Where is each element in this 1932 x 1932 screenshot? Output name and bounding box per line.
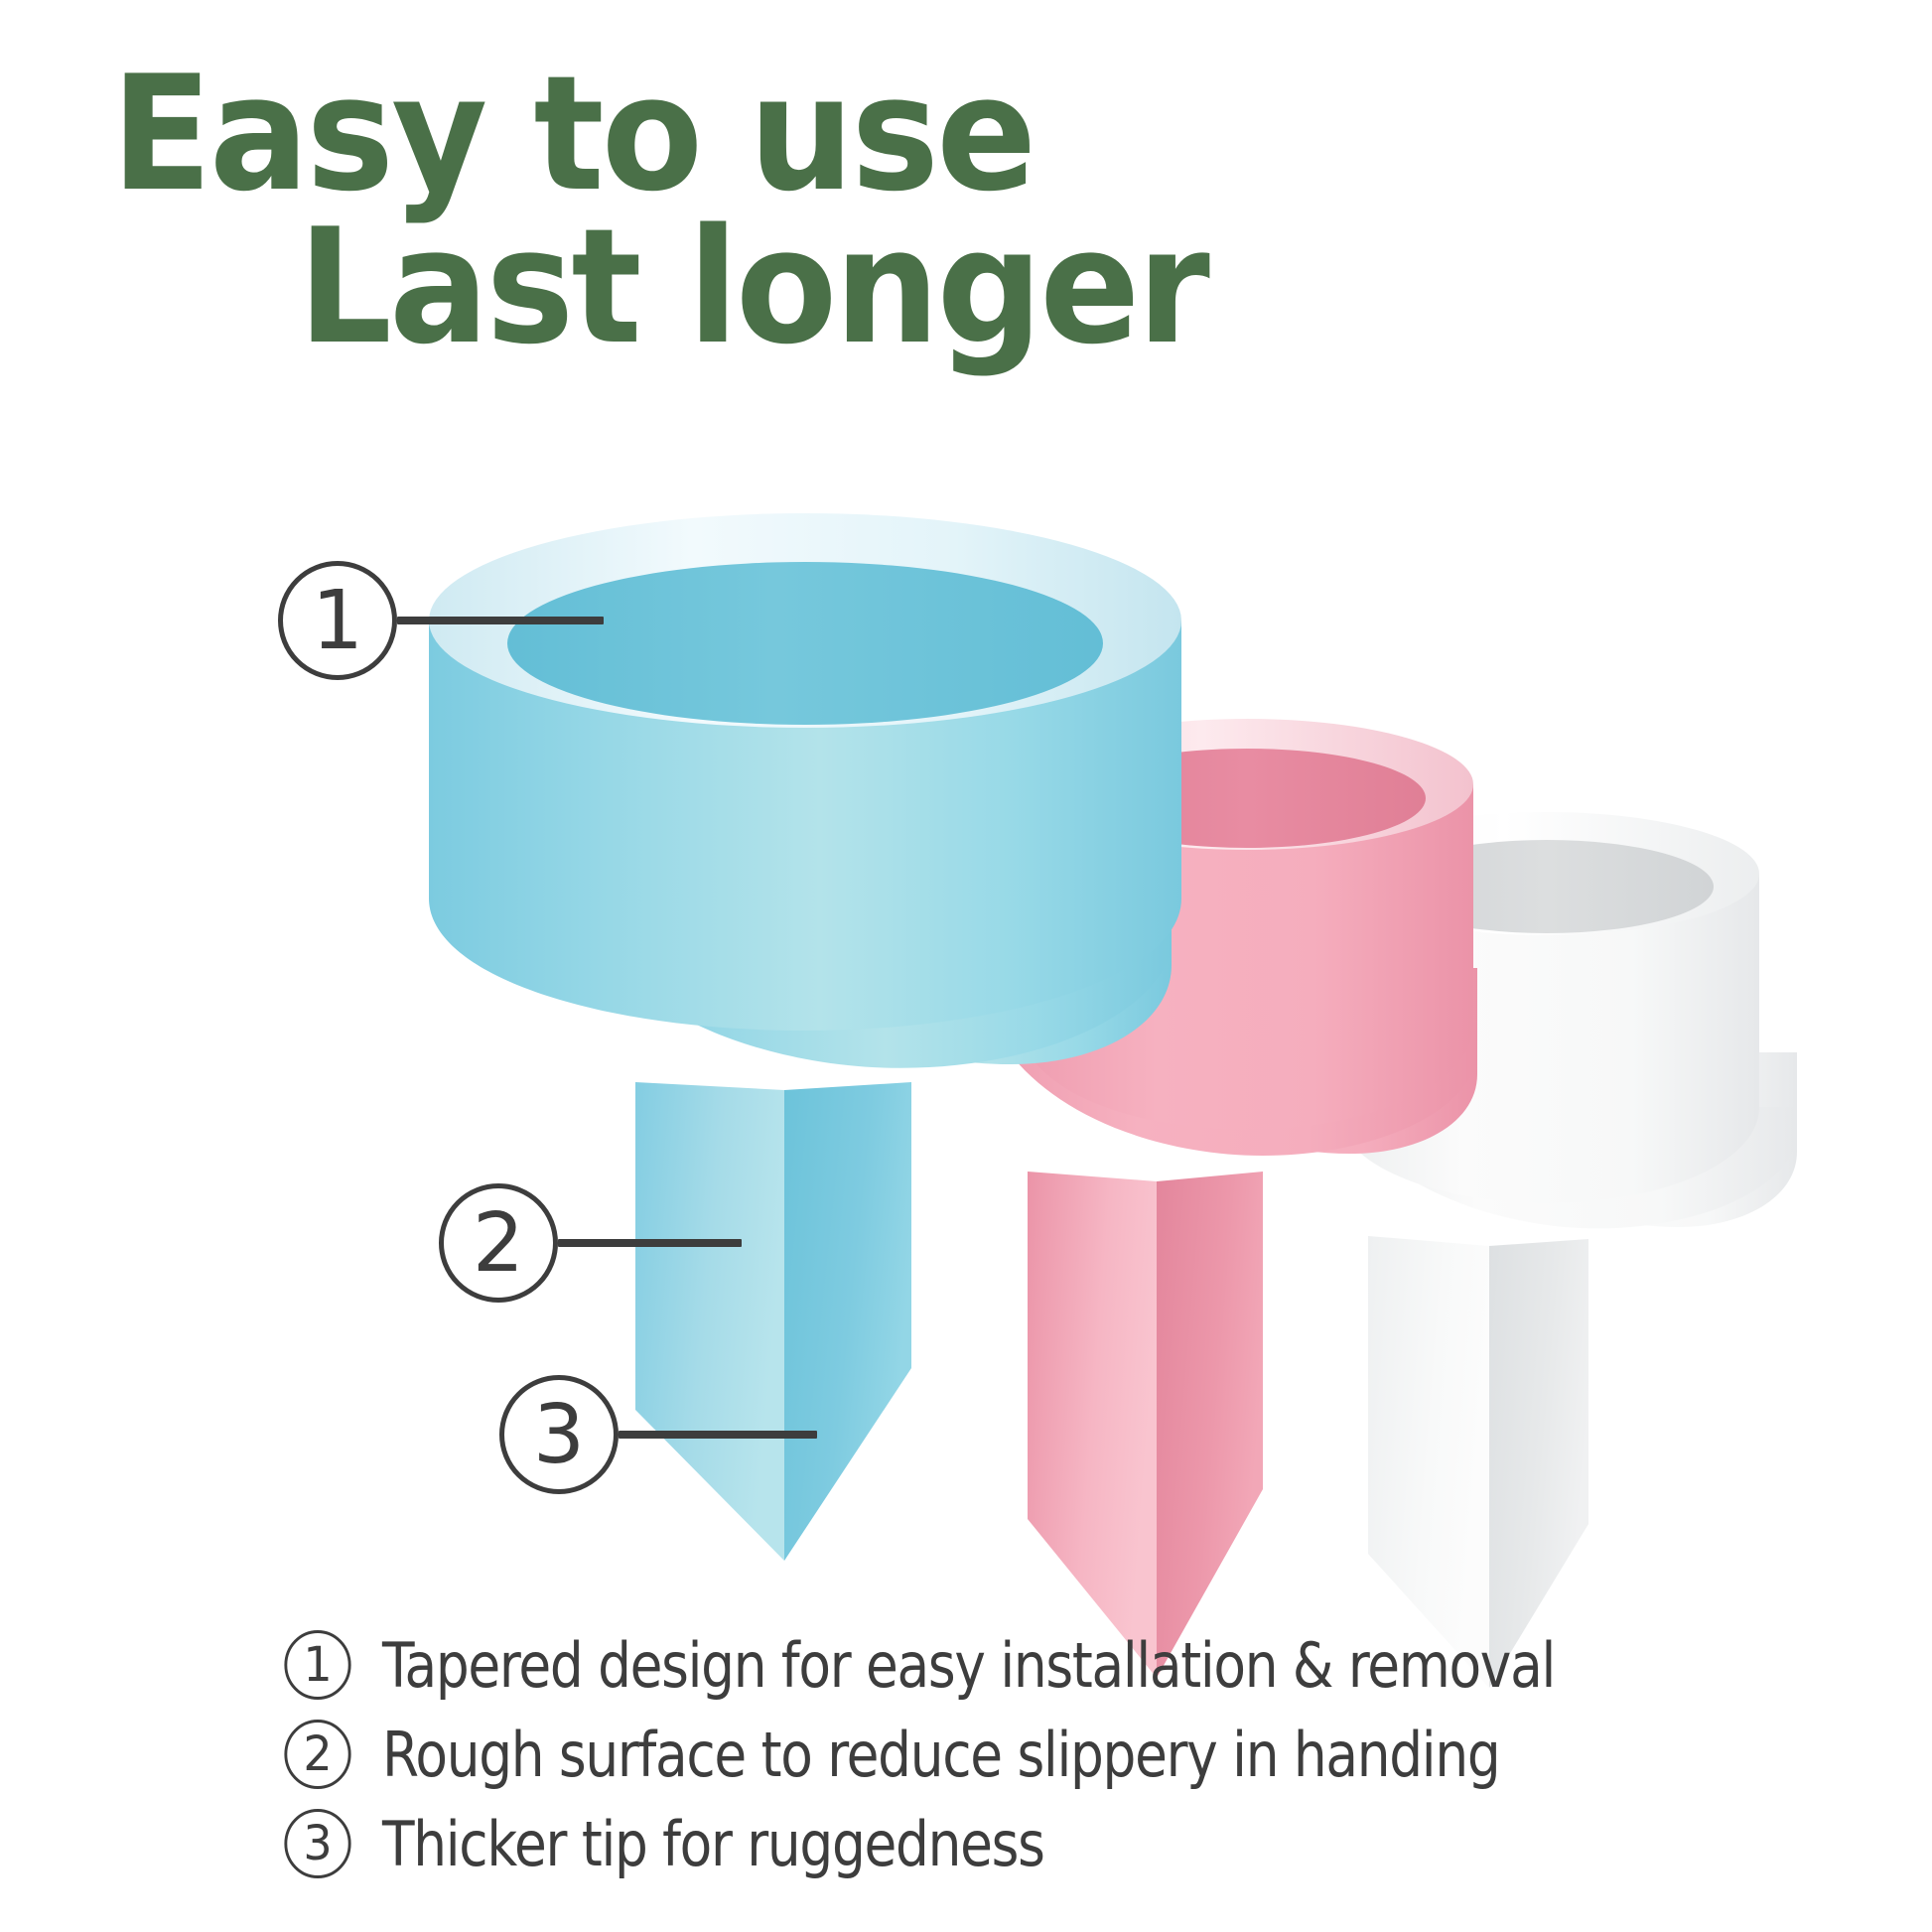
legend-number-1: 1 [284, 1630, 350, 1700]
legend-item-3: 3 Thicker tip for ruggedness [283, 1799, 1871, 1888]
legend-item-2: 2 Rough surface to reduce slippery in ha… [283, 1710, 1871, 1799]
callout-number-2: 2 [439, 1183, 558, 1303]
legend-item-1: 1 Tapered design for easy installation &… [283, 1620, 1871, 1710]
callout-marker-3: 3 [499, 1375, 817, 1494]
legend-number-2: 2 [284, 1720, 350, 1789]
callout-leader-line-1 [397, 617, 604, 624]
pink-spike-tip [1028, 1172, 1263, 1678]
feature-legend: 1 Tapered design for easy installation &… [283, 1620, 1871, 1888]
legend-text-3: Thicker tip for ruggedness [382, 1808, 1044, 1880]
pink-spike-facet-left [1028, 1172, 1157, 1678]
callout-leader-line-2 [558, 1239, 742, 1247]
callout-leader-line-3 [619, 1431, 817, 1439]
legend-text-1: Tapered design for easy installation & r… [382, 1629, 1555, 1702]
legend-text-2: Rough surface to reduce slippery in hand… [382, 1719, 1499, 1791]
callout-number-1: 1 [278, 561, 397, 680]
legend-number-3: 3 [284, 1809, 350, 1878]
callout-marker-2: 2 [439, 1183, 742, 1303]
callout-number-3: 3 [499, 1375, 619, 1494]
infographic-page: Easy to use Last longer [0, 0, 1932, 1932]
pink-spike-facet-right [1157, 1172, 1263, 1678]
callout-marker-1: 1 [278, 561, 604, 680]
